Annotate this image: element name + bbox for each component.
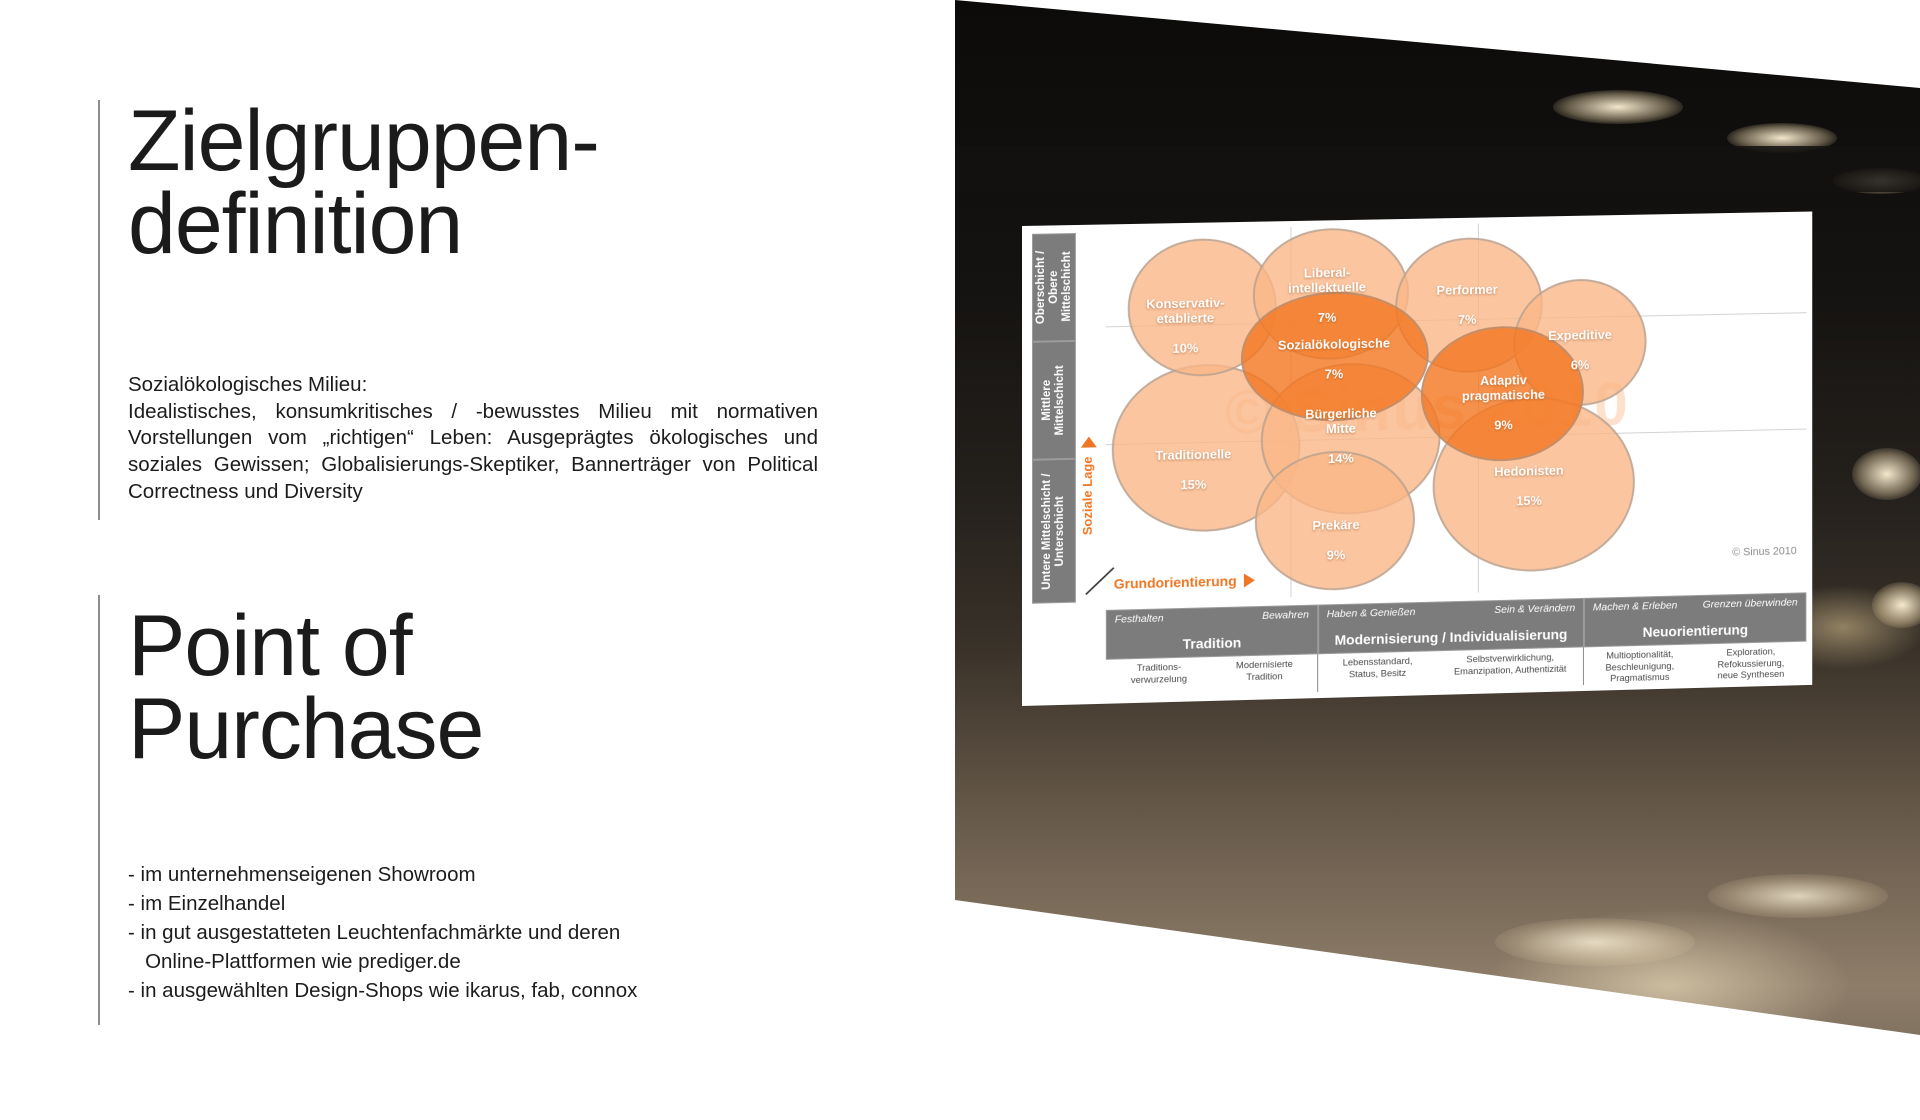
page-title-line-1: Zielgruppen- (128, 100, 599, 183)
x-detail-cell: Traditions- verwurzelung (1106, 657, 1212, 698)
x-axis-arrow-icon (1244, 573, 1255, 587)
y-axis-band-lower-label: Untere Mittelschicht / Unterschicht (1041, 473, 1067, 590)
floor-light-pool (1495, 918, 1695, 966)
body-paragraph: Sozialökologisches Milieu: Idealistische… (128, 372, 818, 505)
x-detail-cell: Selbstverwirklichung, Emanzipation, Auth… (1437, 647, 1584, 689)
x-group-sub-left: Machen & Erleben (1593, 600, 1677, 614)
x-axis-group-tradition: Festhalten Bewahren Tradition (1106, 605, 1318, 660)
x-group-main-label: Modernisierung / Individualisierung (1319, 626, 1583, 649)
y-axis-band-lower: Untere Mittelschicht / Unterschicht (1032, 459, 1076, 604)
list-item: - in ausgewählten Design-Shops wie ikaru… (128, 976, 828, 1005)
x-axis-group-neuorientierung: Machen & Erleben Grenzen überwinden Neuo… (1584, 592, 1806, 647)
x-axis-group-modernisierung: Haben & Genießen Sein & Verändern Modern… (1318, 598, 1584, 654)
bullet-list: - im unternehmenseigenen Showroom - im E… (128, 860, 828, 1006)
x-axis-title-label: Grundorientierung (1114, 573, 1237, 592)
y-axis-band-middle: Mittlere Mittelschicht (1032, 341, 1076, 460)
chart-plot-area: © Sinus 2010 Konservativ- etablierte 10%… (1106, 218, 1807, 602)
chart-copyright: © Sinus 2010 (1732, 545, 1796, 558)
x-group-sub-right: Grenzen überwinden (1703, 596, 1798, 610)
x-detail-cell: Modernisierte Tradition (1212, 654, 1318, 695)
x-group-main-label: Neuorientierung (1585, 620, 1805, 641)
x-detail-cell: Multioptionalität, Beschleunigung, Pragm… (1584, 645, 1695, 686)
x-group-main-label: Tradition (1107, 632, 1317, 653)
list-item: - im Einzelhandel (128, 889, 828, 918)
sinus-milieus-chart: Oberschicht / Obere Mittelschicht Mittle… (1022, 212, 1812, 706)
page-title-2-line-2: Purchase (128, 688, 483, 771)
y-axis-arrow-icon (1081, 436, 1097, 447)
title-rule-top (98, 100, 100, 520)
x-group-sub-right: Bewahren (1262, 609, 1309, 622)
chart-y-axis-bands: Oberschicht / Obere Mittelschicht Mittle… (1032, 233, 1076, 604)
x-group-sub-left: Haben & Genießen (1327, 606, 1416, 620)
page-title-2-line-1: Point of (128, 605, 483, 688)
y-axis-band-upper: Oberschicht / Obere Mittelschicht (1032, 233, 1076, 342)
page-title-line-2: definition (128, 183, 599, 266)
y-axis-title-label: Soziale Lage (1080, 456, 1095, 535)
x-group-sub-left: Festhalten (1115, 612, 1164, 625)
ceiling-beam (955, 146, 1920, 192)
left-text-column: Zielgruppen- definition Sozialökologisch… (0, 0, 900, 1120)
floor-light-pool (1090, 963, 1240, 1003)
page-title-point-of-purchase: Point of Purchase (128, 605, 483, 770)
ceiling-lamp-icon (1553, 90, 1683, 124)
chart-x-axis-table: Festhalten Bewahren Tradition Haben & Ge… (1106, 592, 1807, 697)
floor-light-pool (1708, 874, 1888, 918)
x-detail-cell: Lebensstandard, Status, Besitz (1318, 651, 1437, 692)
x-group-sub-right: Sein & Verändern (1494, 602, 1575, 616)
bubble-prekaere (1255, 449, 1415, 592)
list-item: - im unternehmenseigenen Showroom (128, 860, 828, 889)
list-item: Online-Plattformen wie prediger.de (128, 947, 828, 976)
page-title-zielgruppendefinition: Zielgruppen- definition (128, 100, 599, 265)
list-item: - in gut ausgestatteten Leuchtenfachmärk… (128, 918, 828, 947)
x-detail-cell: Exploration, Refokussierung, neue Synthe… (1695, 642, 1806, 682)
axis-corner-line (1084, 566, 1118, 597)
title-rule-bottom (98, 595, 100, 1025)
wall-lamp-icon (1872, 582, 1920, 628)
y-axis-band-middle-label: Mittlere Mittelschicht (1041, 365, 1067, 436)
y-axis-band-upper-label: Oberschicht / Obere Mittelschicht (1035, 250, 1074, 324)
wall-lamp-icon (1852, 448, 1920, 500)
